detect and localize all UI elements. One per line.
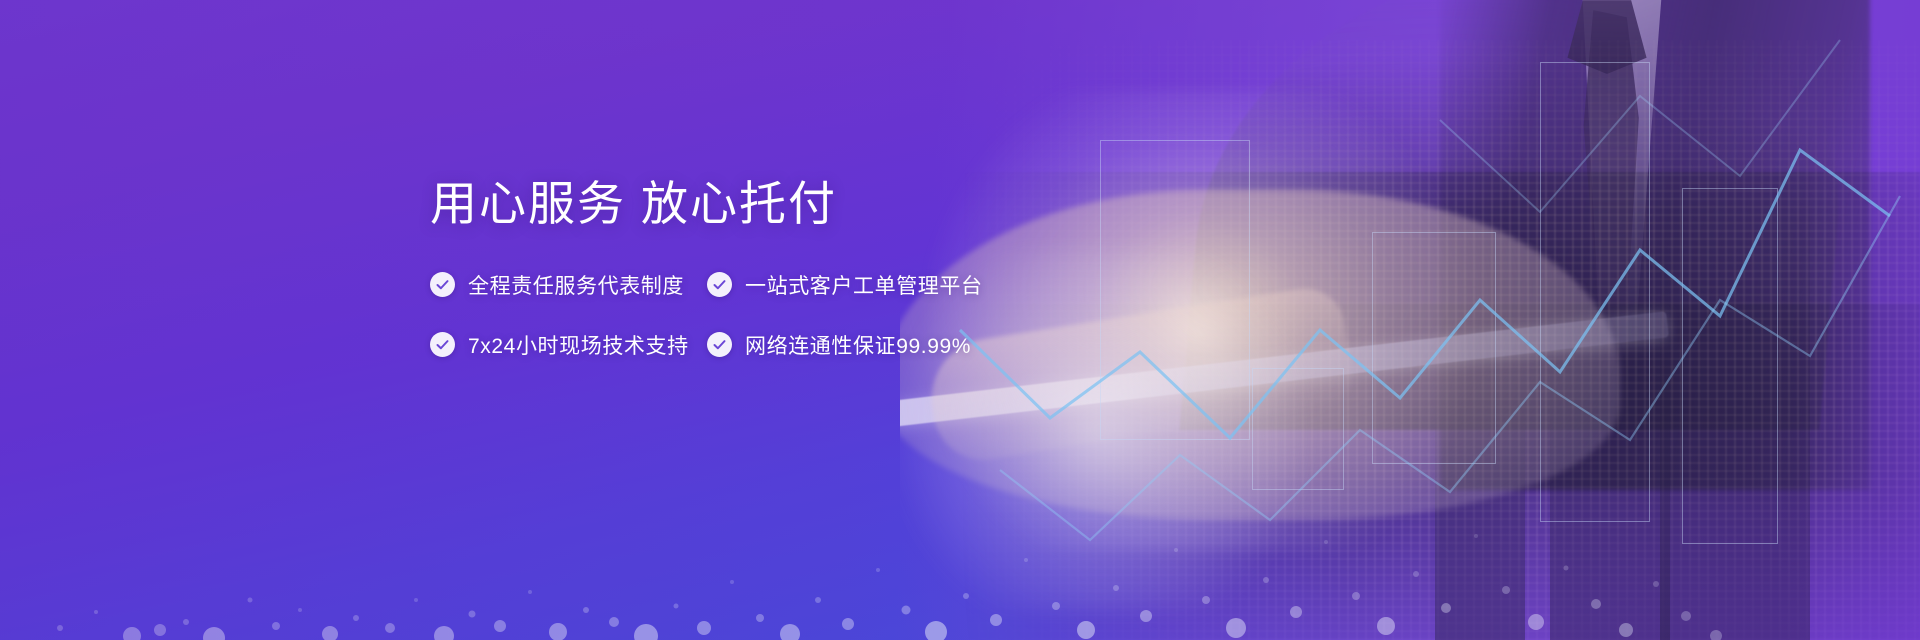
feature-item-2: 一站式客户工单管理平台 <box>707 270 983 300</box>
hero-photo <box>900 0 1920 640</box>
check-circle-icon <box>430 332 455 357</box>
feature-label: 全程责任服务代表制度 <box>468 270 684 300</box>
feature-item-1: 全程责任服务代表制度 <box>430 270 707 300</box>
wireframe-building <box>1540 62 1650 522</box>
feature-label: 网络连通性保证99.99% <box>745 330 971 360</box>
feature-row: 7x24小时现场技术支持 网络连通性保证99.99% <box>430 330 983 360</box>
banner-content: 用心服务 放心托付 全程责任服务代表制度 <box>430 178 983 360</box>
check-circle-icon <box>707 272 732 297</box>
feature-list: 全程责任服务代表制度 一站式客户工单管理平台 <box>430 270 983 360</box>
wireframe-building <box>1100 140 1250 440</box>
check-circle-icon <box>707 332 732 357</box>
hero-banner: 用心服务 放心托付 全程责任服务代表制度 <box>0 0 1920 640</box>
feature-label: 7x24小时现场技术支持 <box>468 330 689 360</box>
banner-headline: 用心服务 放心托付 <box>430 178 983 230</box>
wireframe-building <box>1252 368 1344 490</box>
feature-row: 全程责任服务代表制度 一站式客户工单管理平台 <box>430 270 983 300</box>
wireframe-building <box>1682 188 1778 544</box>
check-circle-icon <box>430 272 455 297</box>
wireframe-building <box>1372 232 1496 464</box>
feature-item-3: 7x24小时现场技术支持 <box>430 330 707 360</box>
feature-item-4: 网络连通性保证99.99% <box>707 330 971 360</box>
feature-label: 一站式客户工单管理平台 <box>745 270 983 300</box>
